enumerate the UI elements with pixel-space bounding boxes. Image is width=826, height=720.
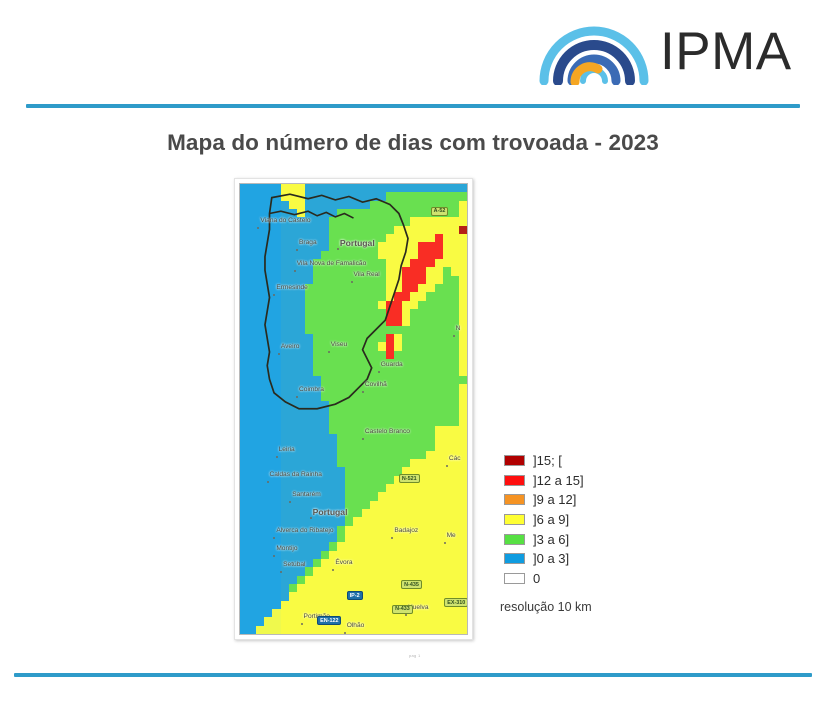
map-city-label: Me bbox=[447, 532, 456, 539]
map-city-dot bbox=[328, 351, 330, 353]
map-city-label: Các bbox=[449, 455, 461, 462]
header-divider bbox=[26, 104, 800, 108]
legend-label: ]15; [ bbox=[533, 454, 562, 467]
map-city-dot bbox=[405, 614, 407, 616]
map-city-label: Olhão bbox=[347, 622, 365, 629]
map-city-label: Covilhã bbox=[365, 381, 387, 388]
legend-swatch bbox=[504, 514, 525, 525]
map-city-dot bbox=[337, 248, 339, 250]
map-city-label: Setúbal bbox=[283, 561, 305, 568]
legend-label: ]6 a 9] bbox=[533, 513, 569, 526]
legend-swatch bbox=[504, 534, 525, 545]
map-city-label: Leiria bbox=[279, 446, 295, 453]
map-city-dot bbox=[267, 481, 269, 483]
legend-item: ]0 a 3] bbox=[504, 549, 694, 569]
map-city-label: Santarém bbox=[292, 491, 321, 498]
footer-divider bbox=[14, 673, 812, 677]
legend-item: ]9 a 12] bbox=[504, 490, 694, 510]
map-city-label: Vila Nova de Famalicão bbox=[297, 260, 367, 267]
map-road-shield: N-435 bbox=[401, 580, 422, 589]
legend-item: 0 bbox=[504, 569, 694, 589]
page-title: Mapa do número de dias com trovoada - 20… bbox=[0, 130, 826, 156]
legend-label: ]12 a 15] bbox=[533, 474, 584, 487]
map-city-label: Viseu bbox=[331, 341, 347, 348]
map-city-label: Coimbra bbox=[299, 386, 324, 393]
legend-swatch bbox=[504, 455, 525, 466]
map-city-dot bbox=[310, 517, 312, 519]
map-city-dot bbox=[453, 335, 455, 337]
map-city-label: Alverca do Ribatejo bbox=[276, 527, 333, 534]
legend-label: ]9 a 12] bbox=[533, 493, 576, 506]
legend-label: 0 bbox=[533, 572, 540, 585]
map-city-label: Montijo bbox=[276, 545, 297, 552]
map-city-label: N bbox=[456, 325, 461, 332]
footer-page-mark: pag 1 bbox=[409, 653, 421, 658]
map-city-dot bbox=[278, 353, 280, 355]
map-city-dot bbox=[296, 396, 298, 398]
legend-swatch bbox=[504, 475, 525, 486]
map-city-dot bbox=[276, 456, 278, 458]
map-city-label: Castelo Branco bbox=[365, 428, 410, 435]
resolution-note: resolução 10 km bbox=[500, 600, 592, 614]
legend-item: ]3 a 6] bbox=[504, 529, 694, 549]
map-city-dot bbox=[301, 623, 303, 625]
map-city-label: Braga bbox=[299, 239, 317, 246]
map-city-dot bbox=[444, 542, 446, 544]
legend-swatch bbox=[504, 573, 525, 584]
map-city-dot bbox=[378, 371, 380, 373]
map-city-label: Portugal bbox=[313, 507, 348, 517]
map-road-shield: N-433 bbox=[392, 605, 413, 614]
map-city-dot bbox=[294, 270, 296, 272]
thunderstorm-raster-grid bbox=[240, 184, 467, 634]
map-city-label: Vila Real bbox=[354, 271, 380, 278]
map-canvas: IPMA, Rua C do Aeroporto - Lisboa - www.… bbox=[239, 183, 468, 635]
map-road-shield: EN-122 bbox=[317, 616, 341, 625]
map-city-label: Ermesinde bbox=[276, 284, 308, 291]
map-city-label: Viana do Castelo bbox=[260, 217, 310, 224]
legend-label: ]0 a 3] bbox=[533, 552, 569, 565]
map-road-shield: N-521 bbox=[399, 474, 420, 483]
map-city-dot bbox=[362, 391, 364, 393]
map-city-label: Badajoz bbox=[394, 527, 418, 534]
map-city-dot bbox=[351, 281, 353, 283]
legend-item: ]15; [ bbox=[504, 451, 694, 471]
legend-item: ]6 a 9] bbox=[504, 510, 694, 530]
map-city-dot bbox=[344, 632, 346, 634]
legend-label: ]3 a 6] bbox=[533, 533, 569, 546]
legend-swatch bbox=[504, 494, 525, 505]
map-road-shield: IP-2 bbox=[347, 591, 363, 600]
thunderstorm-days-map: IPMA, Rua C do Aeroporto - Lisboa - www.… bbox=[234, 178, 473, 640]
ipma-rainbow-icon bbox=[538, 21, 650, 85]
map-city-label: Portugal bbox=[340, 238, 375, 248]
map-road-shield: EX-310 bbox=[444, 598, 468, 607]
map-city-label: Évora bbox=[335, 559, 352, 566]
map-city-label: Aveiro bbox=[281, 343, 300, 350]
map-city-label: Guarda bbox=[381, 361, 403, 368]
map-road-shield: A-52 bbox=[431, 207, 449, 216]
map-city-label: Caldas da Rainha bbox=[270, 471, 322, 478]
legend-swatch bbox=[504, 553, 525, 564]
legend-item: ]12 a 15] bbox=[504, 471, 694, 491]
ipma-wordmark: IPMA bbox=[660, 25, 792, 82]
ipma-logo: IPMA bbox=[538, 14, 800, 92]
map-legend: ]15; [ ]12 a 15] ]9 a 12] ]6 a 9] ]3 a 6… bbox=[504, 451, 694, 588]
